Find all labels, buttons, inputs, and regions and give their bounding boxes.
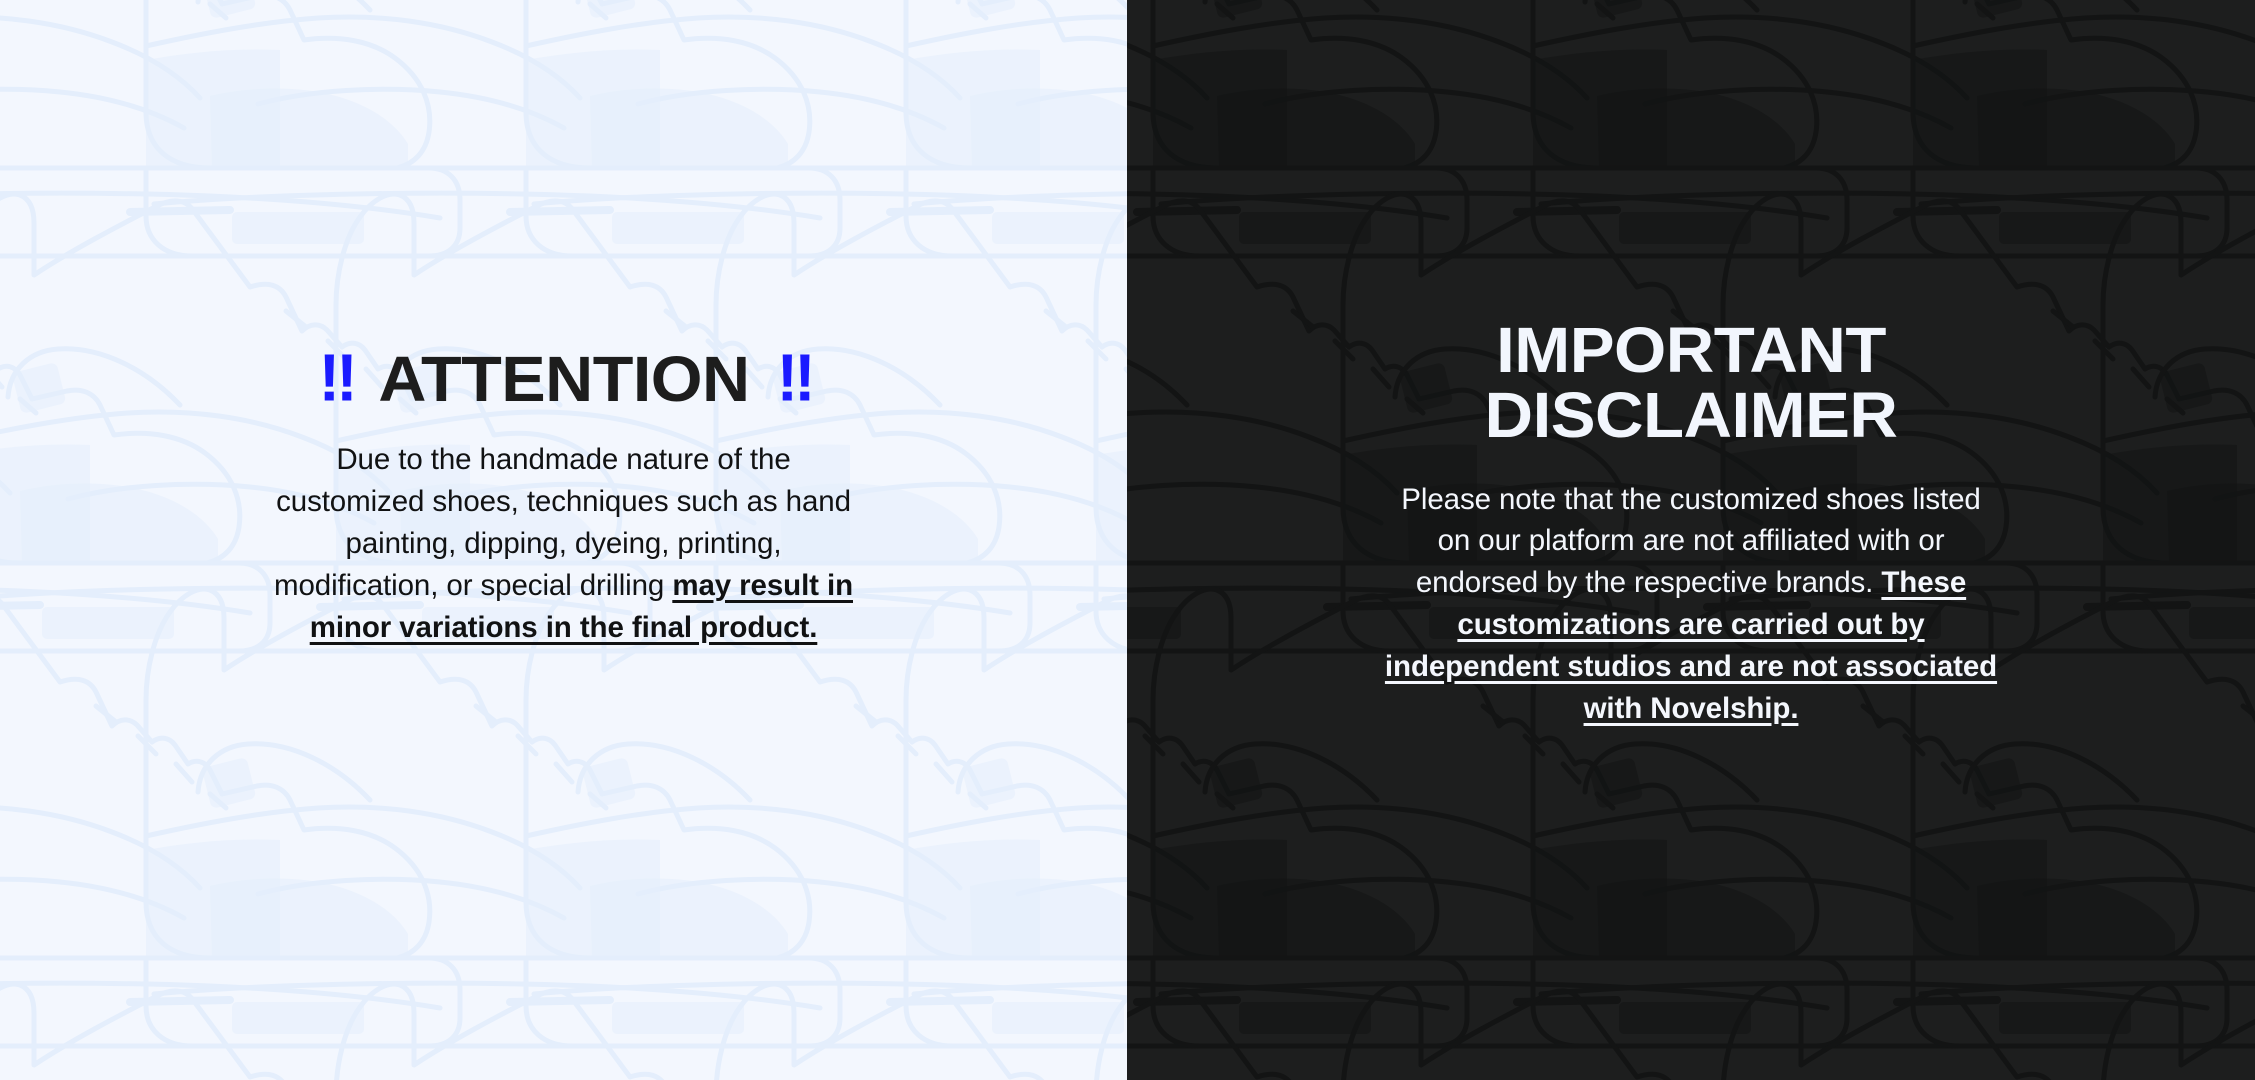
attention-body: Due to the handmade nature of the custom… [264,439,864,648]
double-exclamation-left-icon: ‼ [318,346,351,413]
attention-heading: ‼ ATTENTION ‼ [168,347,958,411]
attention-heading-text: ATTENTION [378,347,749,411]
disclaimer-heading-line2: DISCLAIMER [1292,383,2090,448]
disclaimer-content: IMPORTANT DISCLAIMER Please note that th… [1311,318,2071,730]
disclaimer-heading-line1: IMPORTANT [1292,318,2090,383]
attention-panel: ‼ ATTENTION ‼ Due to the handmade nature… [0,0,1127,1080]
double-exclamation-right-icon: ‼ [776,346,809,413]
split-banner: ‼ ATTENTION ‼ Due to the handmade nature… [0,0,2255,1080]
disclaimer-body: Please note that the customized shoes li… [1384,479,1999,730]
attention-content: ‼ ATTENTION ‼ Due to the handmade nature… [184,347,944,648]
disclaimer-panel: IMPORTANT DISCLAIMER Please note that th… [1127,0,2255,1080]
disclaimer-heading: IMPORTANT DISCLAIMER [1292,318,2090,449]
